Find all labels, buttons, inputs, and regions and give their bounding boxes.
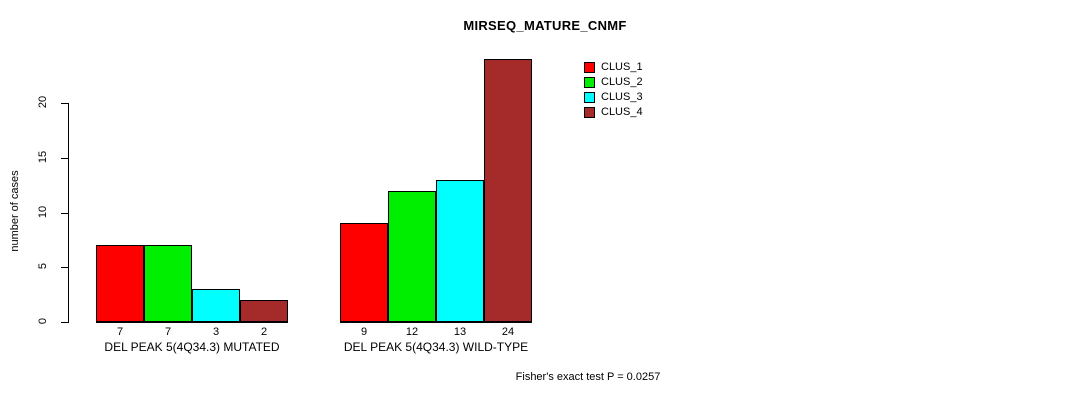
page-title: MIRSEQ_MATURE_CNMF bbox=[0, 18, 1090, 33]
legend-item-label: CLUS_3 bbox=[601, 92, 643, 103]
bar-value-label: 24 bbox=[484, 326, 532, 338]
bar-value-label: 2 bbox=[240, 326, 288, 338]
bar-chart-figure: MIRSEQ_MATURE_CNMF number of cases 05101… bbox=[0, 0, 1090, 400]
y-axis-tick-mark bbox=[61, 213, 68, 214]
bar bbox=[436, 180, 484, 322]
y-axis-tick-mark bbox=[61, 267, 68, 268]
y-axis-tick-label: 5 bbox=[30, 260, 56, 274]
legend-color-swatch bbox=[584, 77, 595, 88]
legend-item-label: CLUS_2 bbox=[601, 77, 643, 88]
legend-color-swatch bbox=[584, 92, 595, 103]
y-axis-tick-label-text: 0 bbox=[37, 308, 49, 334]
bar-value-label: 3 bbox=[192, 326, 240, 338]
y-axis-tick-label: 20 bbox=[30, 96, 56, 110]
legend-item: CLUS_4 bbox=[584, 105, 643, 120]
bar-value-label: 7 bbox=[144, 326, 192, 338]
bar-value-label: 9 bbox=[340, 326, 388, 338]
x-axis-group-label: DEL PEAK 5(4Q34.3) WILD-TYPE bbox=[340, 340, 532, 354]
y-axis-tick-label-text: 5 bbox=[37, 253, 49, 279]
group-baseline bbox=[340, 322, 532, 323]
bar-value-label: 7 bbox=[96, 326, 144, 338]
legend-item: CLUS_2 bbox=[584, 75, 643, 90]
y-axis-tick-label-text: 10 bbox=[37, 199, 49, 225]
title-container: MIRSEQ_MATURE_CNMF bbox=[0, 0, 1090, 44]
bar bbox=[340, 223, 388, 322]
statistical-annotation: Fisher's exact test P = 0.0257 bbox=[0, 371, 1090, 383]
y-axis-tick-label-text: 20 bbox=[37, 89, 49, 115]
bar-value-label: 13 bbox=[436, 326, 484, 338]
y-axis-line bbox=[68, 103, 69, 323]
y-axis-tick-mark bbox=[61, 158, 68, 159]
bar bbox=[144, 245, 192, 322]
y-axis-tick-label-text: 15 bbox=[37, 144, 49, 170]
bar-value-label: 12 bbox=[388, 326, 436, 338]
bar bbox=[388, 191, 436, 322]
bar bbox=[192, 289, 240, 322]
bar bbox=[484, 59, 532, 322]
group-baseline bbox=[96, 322, 288, 323]
x-axis-group-label: DEL PEAK 5(4Q34.3) MUTATED bbox=[96, 340, 288, 354]
y-axis-tick-label: 0 bbox=[30, 315, 56, 329]
legend-item-label: CLUS_4 bbox=[601, 107, 643, 118]
y-axis-tick-label: 10 bbox=[30, 206, 56, 220]
legend-color-swatch bbox=[584, 107, 595, 118]
y-axis-tick-mark bbox=[61, 103, 68, 104]
legend-item: CLUS_1 bbox=[584, 60, 643, 75]
legend-item-label: CLUS_1 bbox=[601, 62, 643, 73]
legend: CLUS_1CLUS_2CLUS_3CLUS_4 bbox=[584, 60, 643, 120]
legend-item: CLUS_3 bbox=[584, 90, 643, 105]
legend-color-swatch bbox=[584, 62, 595, 73]
bar bbox=[96, 245, 144, 322]
bar bbox=[240, 300, 288, 322]
y-axis-title: number of cases bbox=[9, 151, 21, 271]
y-axis-tick-mark bbox=[61, 322, 68, 323]
y-axis-tick-label: 15 bbox=[30, 151, 56, 165]
